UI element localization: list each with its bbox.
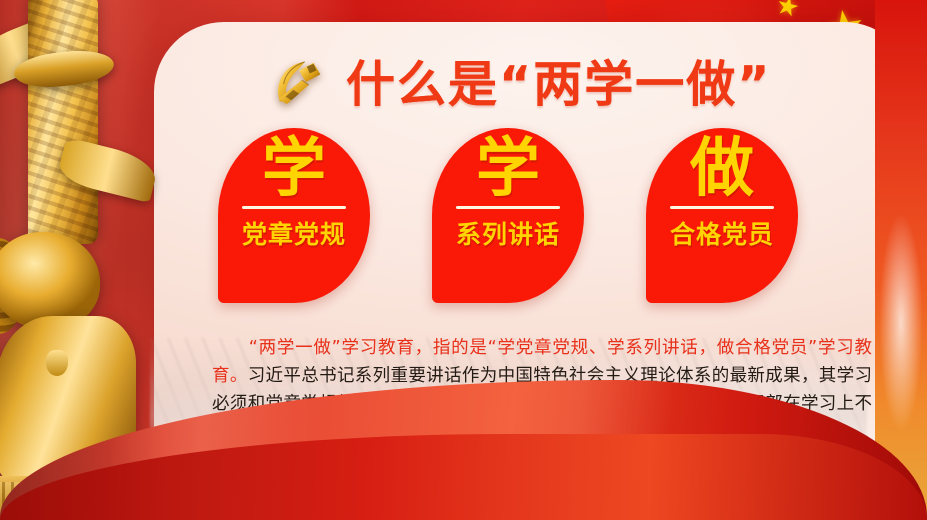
badge-big-char: 学 <box>262 136 326 203</box>
badge-big-char: 做 <box>690 136 754 203</box>
badge-xue-xilie[interactable]: 学 系列讲话 <box>432 128 584 303</box>
badge-subtitle: 合格党员 <box>670 215 774 251</box>
badge-divider <box>242 206 346 209</box>
page-title-row: 什么是“两学一做” <box>270 55 771 113</box>
badge-subtitle: 系列讲话 <box>456 215 560 251</box>
badge-row: 学 党章党规 学 系列讲话 做 合格党员 <box>176 128 896 308</box>
badge-subtitle: 党章党规 <box>242 215 346 251</box>
slide-root: ★ ★ ★ ★ <box>0 0 927 520</box>
badge-divider <box>670 206 774 209</box>
badge-xue-dangzhang[interactable]: 学 党章党规 <box>218 128 370 303</box>
page-title: 什么是“两学一做” <box>346 60 771 109</box>
lion-bell <box>46 350 68 376</box>
ccp-party-emblem-hammer-sickle <box>270 55 332 113</box>
badge-big-char: 学 <box>476 136 540 203</box>
golden-huabiao-column <box>28 0 98 244</box>
badge-zuo-hege[interactable]: 做 合格党员 <box>646 128 798 303</box>
badge-divider <box>456 206 560 209</box>
